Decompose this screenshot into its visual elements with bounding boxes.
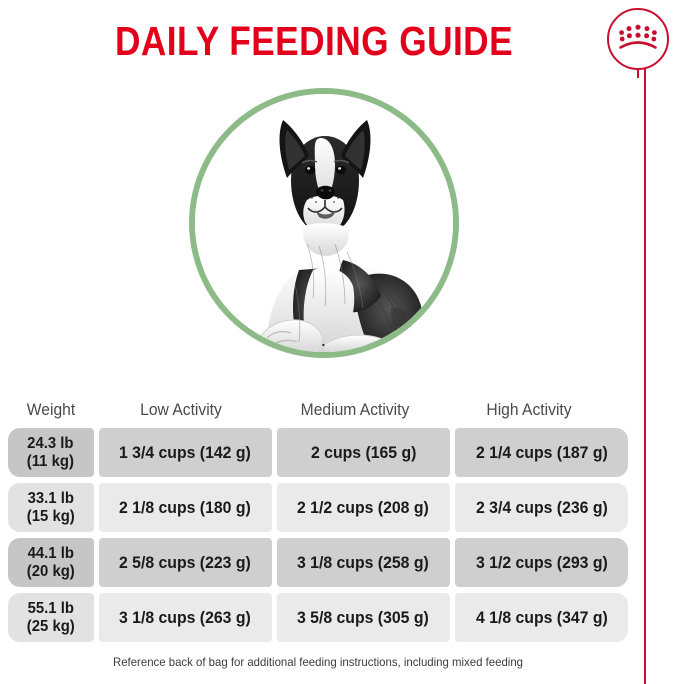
- cell-weight: 33.1 lb (15 kg): [8, 483, 94, 532]
- right-vertical-rule: [644, 68, 646, 684]
- column-header-weight: Weight: [11, 400, 90, 420]
- cell-weight: 24.3 lb (11 kg): [8, 428, 94, 477]
- column-header-medium-activity: Medium Activity: [275, 400, 435, 420]
- cell-medium-activity: 2 cups (165 g): [277, 428, 450, 477]
- royal-canin-crown-icon: [607, 8, 669, 70]
- crown-glyph: [618, 23, 658, 53]
- dog-portrait: [189, 88, 459, 358]
- page-title: DAILY FEEDING GUIDE: [44, 20, 584, 63]
- cell-high-activity: 2 1/4 cups (187 g): [455, 428, 628, 477]
- cell-high-activity: 3 1/2 cups (293 g): [455, 538, 628, 587]
- footnote-text: Reference back of bag for additional fee…: [24, 655, 613, 669]
- cell-medium-activity: 2 1/2 cups (208 g): [277, 483, 450, 532]
- feeding-table: Weight Low Activity Medium Activity High…: [8, 392, 628, 648]
- cell-low-activity: 2 1/8 cups (180 g): [99, 483, 272, 532]
- column-header-high-activity: High Activity: [449, 400, 609, 420]
- cell-low-activity: 3 1/8 cups (263 g): [99, 593, 272, 642]
- table-row: 55.1 lb (25 kg) 3 1/8 cups (263 g) 3 5/8…: [8, 593, 628, 642]
- table-row: 33.1 lb (15 kg) 2 1/8 cups (180 g) 2 1/2…: [8, 483, 628, 532]
- cell-medium-activity: 3 1/8 cups (258 g): [277, 538, 450, 587]
- brand-stem: [637, 70, 639, 78]
- cell-weight: 44.1 lb (20 kg): [8, 538, 94, 587]
- cell-high-activity: 4 1/8 cups (347 g): [455, 593, 628, 642]
- table-row: 24.3 lb (11 kg) 1 3/4 cups (142 g) 2 cup…: [8, 428, 628, 477]
- cell-medium-activity: 3 5/8 cups (305 g): [277, 593, 450, 642]
- cell-low-activity: 2 5/8 cups (223 g): [99, 538, 272, 587]
- table-header-row: Weight Low Activity Medium Activity High…: [8, 392, 628, 428]
- cell-high-activity: 2 3/4 cups (236 g): [455, 483, 628, 532]
- column-header-low-activity: Low Activity: [101, 400, 261, 420]
- cell-low-activity: 1 3/4 cups (142 g): [99, 428, 272, 477]
- table-row: 44.1 lb (20 kg) 2 5/8 cups (223 g) 3 1/8…: [8, 538, 628, 587]
- cell-weight: 55.1 lb (25 kg): [8, 593, 94, 642]
- feeding-guide-page: DAILY FEEDING GUIDE: [0, 0, 679, 684]
- border-collie-photo: [195, 94, 453, 352]
